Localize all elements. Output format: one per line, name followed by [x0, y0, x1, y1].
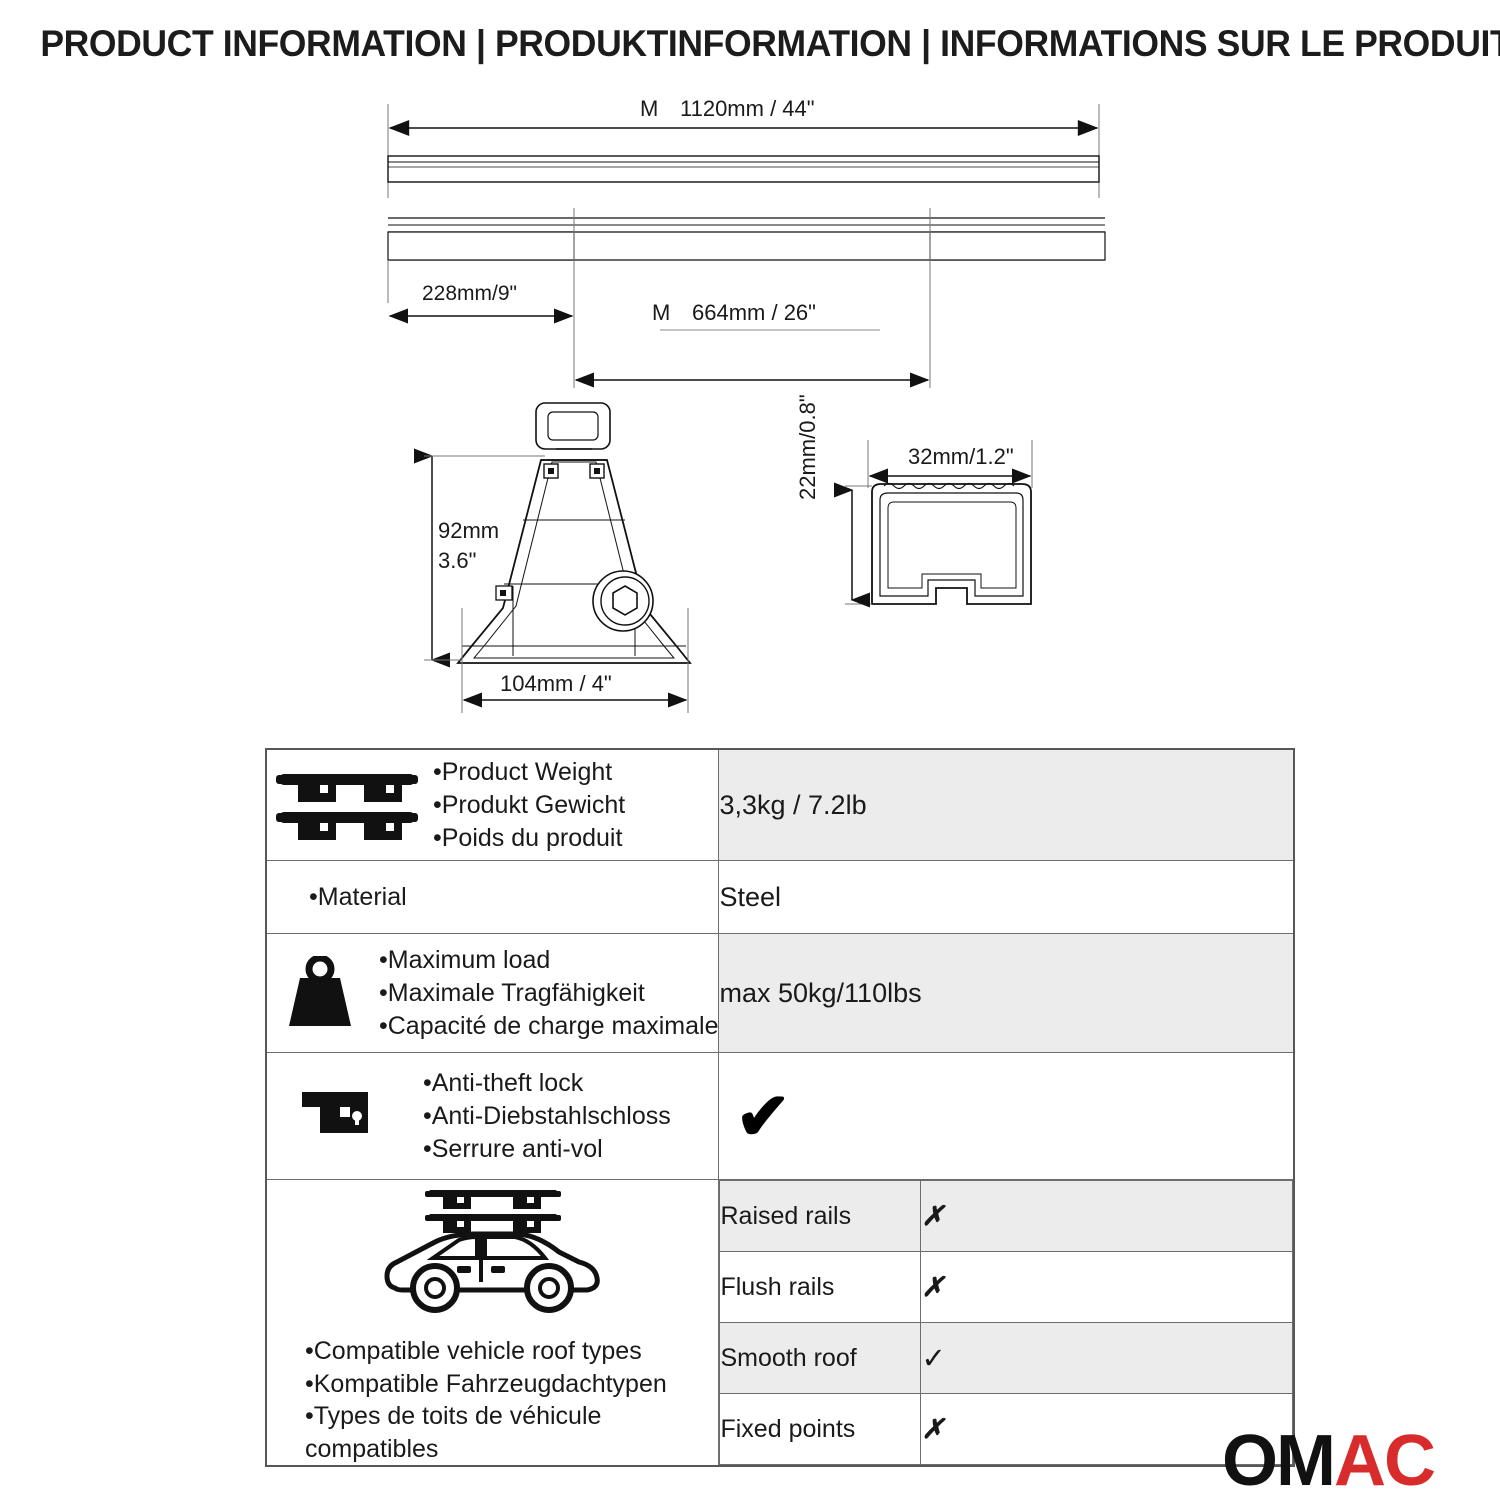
table-row-maximum-load: •Maximum load •Maximale Tragfähigkeit •C… [266, 934, 1294, 1053]
logo-text-ac: AC [1334, 1425, 1434, 1497]
compatibility-matrix: Raised rails ✗ Flush rails ✗ [719, 1180, 1293, 1465]
label-text-material: •Material [267, 881, 407, 914]
roof-type-name: Smooth roof [720, 1323, 921, 1394]
label-cell-maximum-load: •Maximum load •Maximale Tragfähigkeit •C… [266, 934, 719, 1053]
roof-type-row-raised-rails: Raised rails ✗ [720, 1181, 1293, 1252]
check-icon: ✓ [921, 1343, 945, 1375]
label-cell-product-weight: •Product Weight •Produkt Gewicht •Poids … [266, 749, 719, 861]
bullet-line: •Anti-theft lock [423, 1067, 671, 1100]
bullet-line: •Capacité de charge maximale [379, 1010, 718, 1043]
bullet-line: •Poids du produit [433, 822, 625, 855]
bullet-line: •Material [309, 881, 407, 914]
bullet-line: •Maximale Tragfähigkeit [379, 977, 718, 1010]
compatibility-matrix-cell: Raised rails ✗ Flush rails ✗ [719, 1180, 1294, 1467]
technical-drawing: M 1120mm / 44" 228mm/9" M 664mm / 26" 92… [0, 88, 1500, 738]
bullet-line: •Product Weight [433, 756, 625, 789]
drawing-linework [0, 88, 1500, 738]
bullet-line: •Produkt Gewicht [433, 789, 625, 822]
roof-type-name: Flush rails [720, 1252, 921, 1323]
label-text-compatible-roof-types: •Compatible vehicle roof types •Kompatib… [267, 1325, 667, 1465]
roof-type-row-fixed-points: Fixed points ✗ [720, 1394, 1293, 1465]
bullet-line: •Serrure anti-vol [423, 1133, 671, 1166]
cross-icon: ✗ [921, 1201, 944, 1231]
table-row-compatible-roof-types: •Compatible vehicle roof types •Kompatib… [266, 1180, 1294, 1467]
page-title: PRODUCT INFORMATION | PRODUKTINFORMATION… [0, 23, 1500, 65]
table-row-anti-theft-lock: •Anti-theft lock •Anti-Diebstahlschloss … [266, 1053, 1294, 1180]
bullet-line: •Types de toits de véhicule compatibles [305, 1400, 635, 1465]
car-with-rack-icon [373, 1180, 613, 1325]
cross-icon: ✗ [921, 1272, 944, 1302]
omac-logo: OMAC [1222, 1425, 1434, 1497]
table-row-material: •Material Steel [266, 861, 1294, 934]
label-cell-material: •Material [266, 861, 719, 934]
roof-type-name: Fixed points [720, 1394, 921, 1465]
roof-type-mark: ✗ [921, 1181, 1293, 1252]
table-row-product-weight: •Product Weight •Produkt Gewicht •Poids … [266, 749, 1294, 861]
bullet-line: •Compatible vehicle roof types [305, 1335, 667, 1368]
roof-type-name: Raised rails [720, 1181, 921, 1252]
value-maximum-load: max 50kg/110lbs [719, 934, 1294, 1053]
roof-type-mark: ✗ [921, 1252, 1293, 1323]
bullet-line: •Maximum load [379, 944, 718, 977]
label-text-maximum-load: •Maximum load •Maximale Tragfähigkeit •C… [379, 944, 718, 1043]
roof-type-row-flush-rails: Flush rails ✗ [720, 1252, 1293, 1323]
logo-text-om: OM [1222, 1425, 1334, 1497]
value-material: Steel [719, 861, 1294, 934]
weight-icon [267, 956, 373, 1030]
label-cell-anti-theft-lock: •Anti-theft lock •Anti-Diebstahlschloss … [266, 1053, 719, 1180]
bullet-line: •Anti-Diebstahlschloss [423, 1100, 671, 1133]
label-text-anti-theft-lock: •Anti-theft lock •Anti-Diebstahlschloss … [423, 1067, 671, 1166]
specifications-table: •Product Weight •Produkt Gewicht •Poids … [265, 748, 1295, 1467]
value-anti-theft-lock: ✔ [719, 1053, 1294, 1180]
label-text-product-weight: •Product Weight •Produkt Gewicht •Poids … [433, 756, 625, 855]
lock-icon [267, 1086, 417, 1146]
crossbars-icon [267, 768, 427, 842]
value-product-weight: 3,3kg / 7.2lb [719, 749, 1294, 861]
roof-type-mark: ✓ [921, 1323, 1293, 1394]
bullet-line: •Kompatible Fahrzeugdachtypen [305, 1368, 667, 1401]
roof-type-row-smooth-roof: Smooth roof ✓ [720, 1323, 1293, 1394]
header-bar: PRODUCT INFORMATION | PRODUKTINFORMATION… [0, 0, 1500, 88]
checkmark-icon: ✔ [719, 1079, 790, 1153]
cross-icon: ✗ [921, 1414, 944, 1444]
label-cell-compatible-roof-types: •Compatible vehicle roof types •Kompatib… [266, 1180, 719, 1467]
